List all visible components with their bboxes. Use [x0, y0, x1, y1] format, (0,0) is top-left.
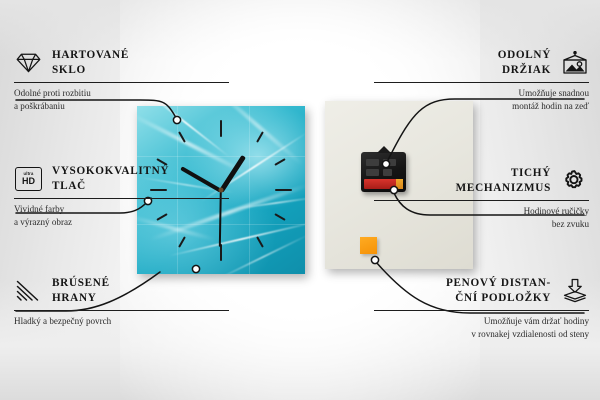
feature-edge-header: BRÚSENÉ HRANY [14, 276, 229, 306]
feature-glass-titles: HARTOVANÉ SKLO [52, 48, 129, 78]
feature-holder-desc-2: montáž hodin na zeď [374, 100, 589, 113]
feature-foam-rule [374, 310, 589, 311]
feature-mechanism-rule [374, 200, 589, 201]
feature-print-header: ultra HD VYSOKOKVALITNÝ TLAČ [14, 164, 229, 194]
feature-edge-title-2: HRANY [52, 291, 110, 306]
feature-glass-header: HARTOVANÉ SKLO [14, 48, 229, 78]
feature-foam-header: PENOVÝ DISTAN- ČNÍ PODLOŽKY [374, 276, 589, 306]
beveled-edge-icon [14, 278, 43, 304]
foam-spacer-pad [360, 237, 377, 254]
feature-silent-mechanism: TICHÝ MECHANIZMUS Hodinové ručičky bez z… [374, 166, 589, 231]
clock-tick-3 [275, 189, 292, 191]
feature-print-desc-2: a výrazný obraz [14, 216, 229, 229]
feature-edge-desc-1: Hladký a bezpečný povrch [14, 315, 229, 328]
feature-beveled-edges: BRÚSENÉ HRANY Hladký a bezpečný povrch [14, 276, 229, 328]
feature-foam-desc-1: Umožňuje vám držať hodiny [374, 315, 589, 328]
infographic-canvas: HARTOVANÉ SKLO Odolné proti rozbitiu a p… [0, 0, 600, 400]
feature-holder-titles: ODOLNÝ DRŽIAK [498, 48, 551, 78]
clock-tick-11 [178, 131, 186, 142]
feature-mechanism-description: Hodinové ručičky bez zvuku [374, 205, 589, 231]
feature-mechanism-title-1: TICHÝ [511, 166, 551, 181]
foam-spacer-icon [560, 278, 589, 304]
ultra-hd-icon: ultra HD [14, 166, 43, 192]
feature-mechanism-title-2: MECHANIZMUS [456, 181, 551, 196]
diamond-icon [14, 50, 43, 76]
feature-glass-desc-2: a poškrábaniu [14, 100, 229, 113]
feature-high-quality-print: ultra HD VYSOKOKVALITNÝ TLAČ Vividné far… [14, 164, 229, 229]
feature-print-rule [14, 198, 229, 199]
feature-foam-title-1: PENOVÝ DISTAN- [446, 276, 551, 291]
clock-tick-7 [178, 236, 186, 247]
feature-glass-rule [14, 82, 229, 83]
clock-tick-2 [274, 158, 285, 166]
feature-holder-title-1: ODOLNÝ [498, 48, 551, 63]
feature-edge-title-1: BRÚSENÉ [52, 276, 110, 291]
feature-foam-titles: PENOVÝ DISTAN- ČNÍ PODLOŽKY [446, 276, 551, 306]
feature-holder-description: Umožňuje snadnou montáž hodin na zeď [374, 87, 589, 113]
mechanism-hanger [377, 146, 391, 153]
feature-glass-description: Odolné proti rozbitiu a poškrábaniu [14, 87, 229, 113]
feature-durable-holder: ODOLNÝ DRŽIAK Umožňuje snadnou [374, 48, 589, 113]
clock-tick-4 [274, 213, 285, 221]
clock-tick-12 [220, 120, 222, 137]
feature-foam-title-2: ČNÍ PODLOŽKY [455, 291, 551, 306]
feature-holder-title-2: DRŽIAK [502, 63, 551, 78]
feature-mechanism-desc-1: Hodinové ručičky [374, 205, 589, 218]
feature-glass-title-1: HARTOVANÉ [52, 48, 129, 63]
feature-holder-desc-1: Umožňuje snadnou [374, 87, 589, 100]
feature-foam-desc-2: v rovnakej vzdialenosti od steny [374, 328, 589, 341]
clock-tick-5 [256, 236, 264, 247]
feature-print-description: Vividné farby a výrazný obraz [14, 203, 229, 229]
feature-print-title-1: VYSOKOKVALITNÝ [52, 164, 169, 179]
feature-edge-titles: BRÚSENÉ HRANY [52, 276, 110, 306]
feature-mechanism-titles: TICHÝ MECHANIZMUS [456, 166, 551, 196]
picture-frame-icon [560, 50, 589, 76]
ultra-hd-main-text: HD [22, 177, 35, 186]
feature-mechanism-desc-2: bez zvuku [374, 218, 589, 231]
feature-foam-description: Umožňuje vám držať hodiny v rovnakej vzd… [374, 315, 589, 341]
feature-glass-title-2: SKLO [52, 63, 129, 78]
gear-icon [560, 168, 589, 194]
ultra-hd-badge: ultra HD [15, 167, 42, 191]
feature-mechanism-header: TICHÝ MECHANIZMUS [374, 166, 589, 196]
clock-tick-1 [256, 131, 264, 142]
feature-holder-rule [374, 82, 589, 83]
feature-print-desc-1: Vividné farby [14, 203, 229, 216]
feature-tempered-glass: HARTOVANÉ SKLO Odolné proti rozbitiu a p… [14, 48, 229, 113]
feature-edge-description: Hladký a bezpečný povrch [14, 315, 229, 328]
feature-edge-rule [14, 310, 229, 311]
feature-print-titles: VYSOKOKVALITNÝ TLAČ [52, 164, 169, 194]
feature-glass-desc-1: Odolné proti rozbitiu [14, 87, 229, 100]
feature-print-title-2: TLAČ [52, 179, 169, 194]
feature-holder-header: ODOLNÝ DRŽIAK [374, 48, 589, 78]
feature-foam-spacers: PENOVÝ DISTAN- ČNÍ PODLOŽKY Umožňuje vám… [374, 276, 589, 341]
